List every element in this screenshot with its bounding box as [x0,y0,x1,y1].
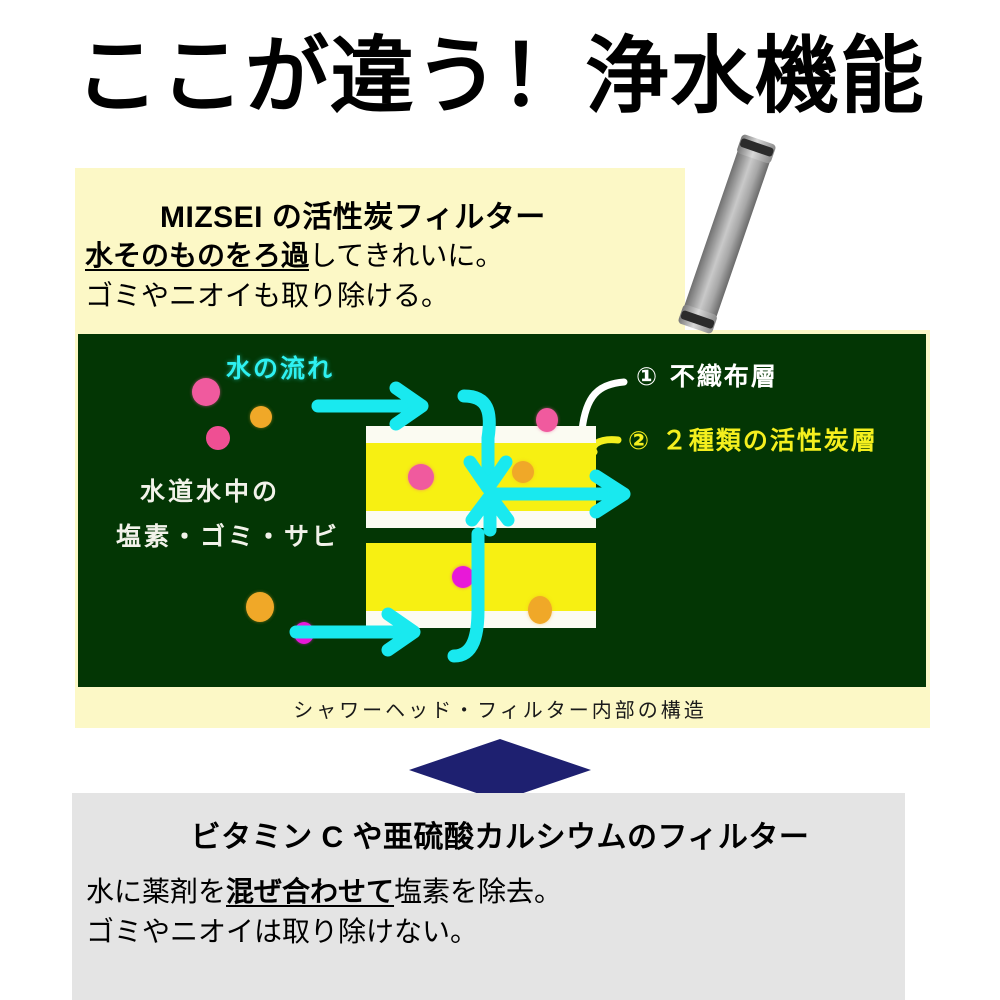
top-panel-heading: MIZSEI の活性炭フィルター [160,192,760,236]
infographic-root: ここが違う！浄水機能 MIZSEI の活性炭フィルター 水そのものをろ過してきれ… [0,0,1000,1000]
bottom-panel-body-line1-emphasis: 混ぜ合わせて [226,876,394,907]
top-panel-body-line1-rest: してきれいに。 [309,240,503,271]
top-panel-body-line1: 水そのものをろ過してきれいに。 [85,236,705,276]
bottom-panel-body-line1-pre: 水に薬剤を [86,876,226,907]
bottom-panel-body: 水に薬剤を混ぜ合わせて塩素を除去。 ゴミやニオイは取り除けない。 [86,872,846,952]
filter-structure-diagram: 水の流れ 水道水中の 塩素・ゴミ・サビ ① 不織布層 ② ２種類の活性炭層 [78,334,926,687]
bottom-panel-body-line1-post: 塩素を除去。 [394,876,562,907]
top-panel-body: 水そのものをろ過してきれいに。 ゴミやニオイも取り除ける。 [85,236,705,316]
page-title: ここが違う！浄水機能 [0,32,1000,120]
water-flow-arrows [78,334,926,687]
top-panel-body-line1-emphasis: 水そのものをろ過 [85,240,309,271]
navy-double-arrow-icon [409,739,591,801]
top-panel-body-line2: ゴミやニオイも取り除ける。 [85,276,705,316]
bottom-panel-body-line2: ゴミやニオイは取り除けない。 [86,912,846,952]
bottom-panel-body-line1: 水に薬剤を混ぜ合わせて塩素を除去。 [86,872,846,912]
diagram-caption: シャワーヘッド・フィルター内部の構造 [0,694,1000,723]
bottom-panel-heading: ビタミン C や亜硫酸カルシウムのフィルター [0,812,1000,856]
